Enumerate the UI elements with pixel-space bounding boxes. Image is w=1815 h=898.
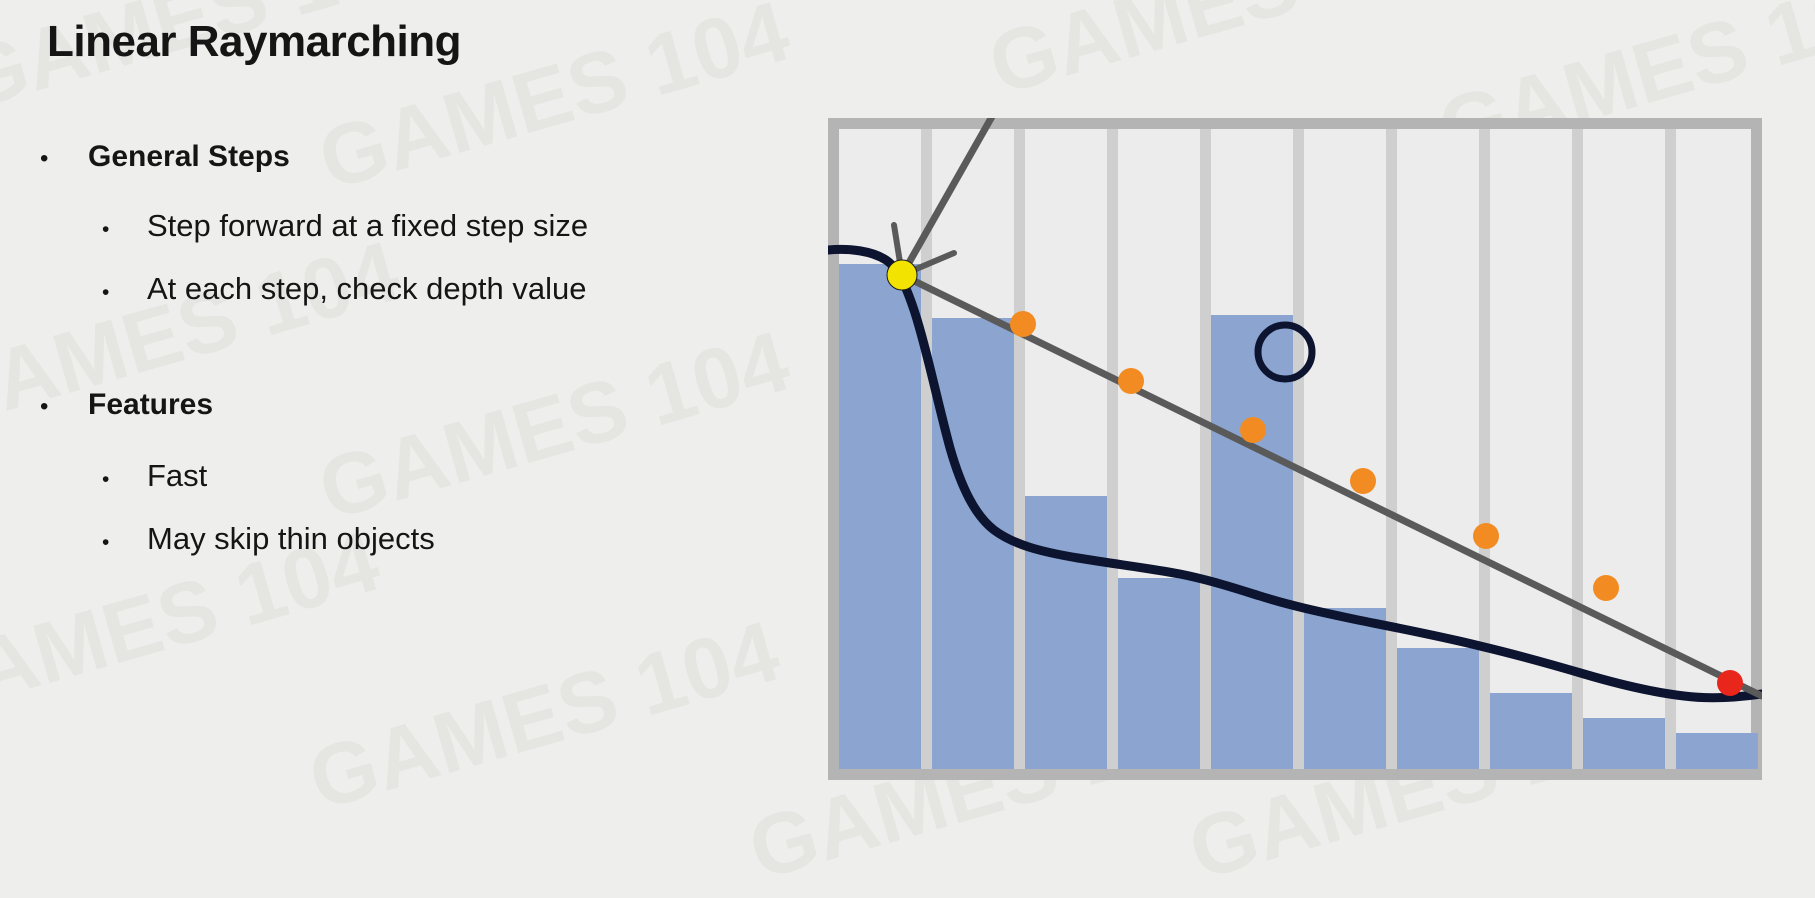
column-divider: [1107, 129, 1118, 769]
bullet-glyph-icon: •: [40, 147, 88, 171]
bullet-item-may-skip-thin-objects: • May skip thin objects: [102, 521, 435, 557]
sample-6: [1593, 575, 1619, 601]
bullet-item-check-depth: • At each step, check depth value: [102, 271, 586, 307]
column-divider: [1386, 129, 1397, 769]
sample-1: [1010, 311, 1036, 337]
depth-bar: [1211, 315, 1293, 769]
depth-bar: [1490, 693, 1572, 769]
column-divider: [1479, 129, 1490, 769]
depth-bar: [932, 318, 1014, 769]
column-divider: [1014, 129, 1025, 769]
bullet-label: Fast: [147, 458, 207, 494]
depth-bar: [1118, 578, 1200, 769]
bullet-item-general-steps: • General Steps: [40, 140, 290, 174]
bullet-item-step-forward: • Step forward at a fixed step size: [102, 208, 588, 244]
bullet-glyph-icon: •: [40, 395, 88, 419]
bullet-label: Step forward at a fixed step size: [147, 208, 588, 244]
depth-bar: [1397, 648, 1479, 769]
sample-7-miss: [1717, 670, 1743, 696]
sample-5: [1473, 523, 1499, 549]
sample-4: [1350, 468, 1376, 494]
depth-bar: [839, 264, 921, 769]
depth-bar: [1583, 718, 1665, 769]
bullet-glyph-icon: •: [102, 532, 147, 553]
column-divider: [1293, 129, 1304, 769]
page-title: Linear Raymarching: [47, 17, 461, 67]
bullet-label: General Steps: [88, 140, 290, 174]
bullet-glyph-icon: •: [102, 219, 147, 240]
bullet-label: May skip thin objects: [147, 521, 435, 557]
depth-bar: [1025, 496, 1107, 769]
bullet-item-fast: • Fast: [102, 458, 207, 494]
column-divider: [1665, 129, 1676, 769]
ray-hit-point: [887, 260, 917, 290]
bullet-label: At each step, check depth value: [147, 271, 586, 307]
bullet-label: Features: [88, 388, 213, 422]
slide-root: Linear Raymarching • General Steps • Ste…: [0, 0, 1815, 898]
bullet-glyph-icon: •: [102, 469, 147, 490]
depth-bar: [1304, 608, 1386, 769]
bullet-glyph-icon: •: [102, 282, 147, 303]
column-divider: [1200, 129, 1211, 769]
sample-3: [1240, 417, 1266, 443]
bullet-item-features: • Features: [40, 388, 213, 422]
sample-2: [1118, 368, 1144, 394]
linear-raymarching-figure: [828, 118, 1762, 780]
depth-bar: [1676, 733, 1758, 769]
raymarch-diagram-svg: [828, 118, 1762, 780]
